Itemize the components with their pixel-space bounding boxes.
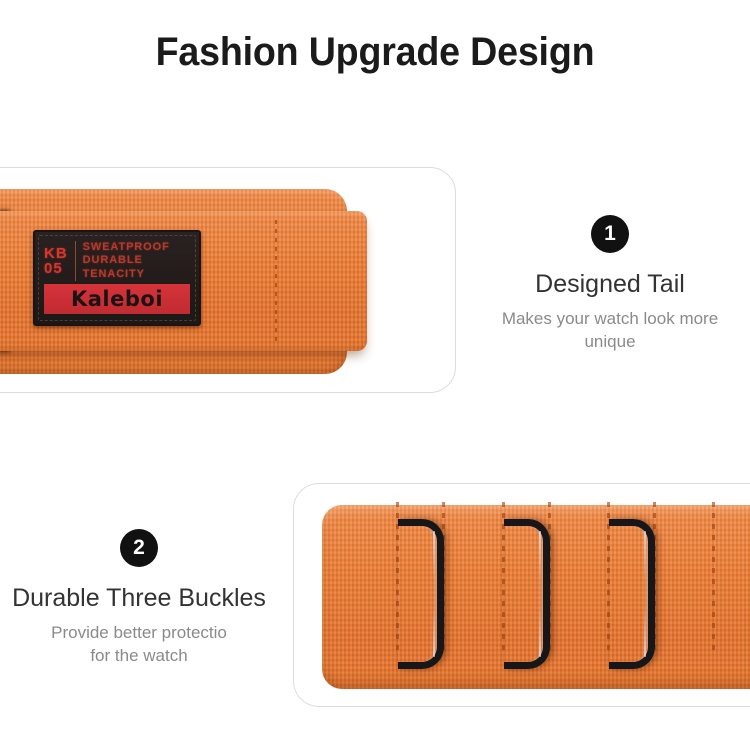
callout-description: Provide better protectio for the watch <box>0 622 278 668</box>
photo-card-three-buckles <box>293 483 750 707</box>
label-claim-tenacity: TENACITY <box>83 268 170 281</box>
callout-description-line1: Provide better protectio <box>0 622 278 645</box>
callout-description-line1: Makes your watch look more <box>470 308 750 331</box>
label-divider <box>75 241 76 281</box>
stitch-line-icon <box>712 502 715 652</box>
callout-description-line2: unique <box>470 331 750 354</box>
photo-card-designed-tail: KB 05 SWEATPROOF DURABLE TENACITY Kalebo… <box>0 167 456 393</box>
brand-name: Kaleboi <box>71 289 163 310</box>
label-product-code: KB 05 <box>44 246 68 277</box>
label-brand-banner: Kaleboi <box>44 284 190 314</box>
callout-title: Durable Three Buckles <box>0 583 278 613</box>
callout-durable-three-buckles: 2 Durable Three Buckles Provide better p… <box>0 529 278 668</box>
stitch-line-icon <box>275 220 277 342</box>
page-title: Fashion Upgrade Design <box>23 30 728 75</box>
label-code-line2: 05 <box>44 261 68 276</box>
label-top-row: KB 05 SWEATPROOF DURABLE TENACITY <box>44 241 192 281</box>
buckle-keeper-icon <box>609 519 655 669</box>
label-claim-durable: DURABLE <box>83 254 170 267</box>
callout-description: Makes your watch look more unique <box>470 308 750 354</box>
label-code-line1: KB <box>44 246 68 261</box>
infographic-page: Fashion Upgrade Design KB 05 SWEATPROO <box>0 0 750 750</box>
number-badge-icon: 2 <box>120 529 158 567</box>
callout-designed-tail: 1 Designed Tail Makes your watch look mo… <box>470 215 750 354</box>
label-claims: SWEATPROOF DURABLE TENACITY <box>83 241 170 281</box>
callout-description-line2: for the watch <box>0 645 278 668</box>
woven-label-icon: KB 05 SWEATPROOF DURABLE TENACITY Kalebo… <box>33 230 201 326</box>
callout-title: Designed Tail <box>470 269 750 299</box>
buckle-keeper-icon <box>504 519 550 669</box>
label-claim-sweatproof: SWEATPROOF <box>83 241 170 254</box>
buckle-keeper-icon <box>398 519 444 669</box>
number-badge-icon: 1 <box>591 215 629 253</box>
